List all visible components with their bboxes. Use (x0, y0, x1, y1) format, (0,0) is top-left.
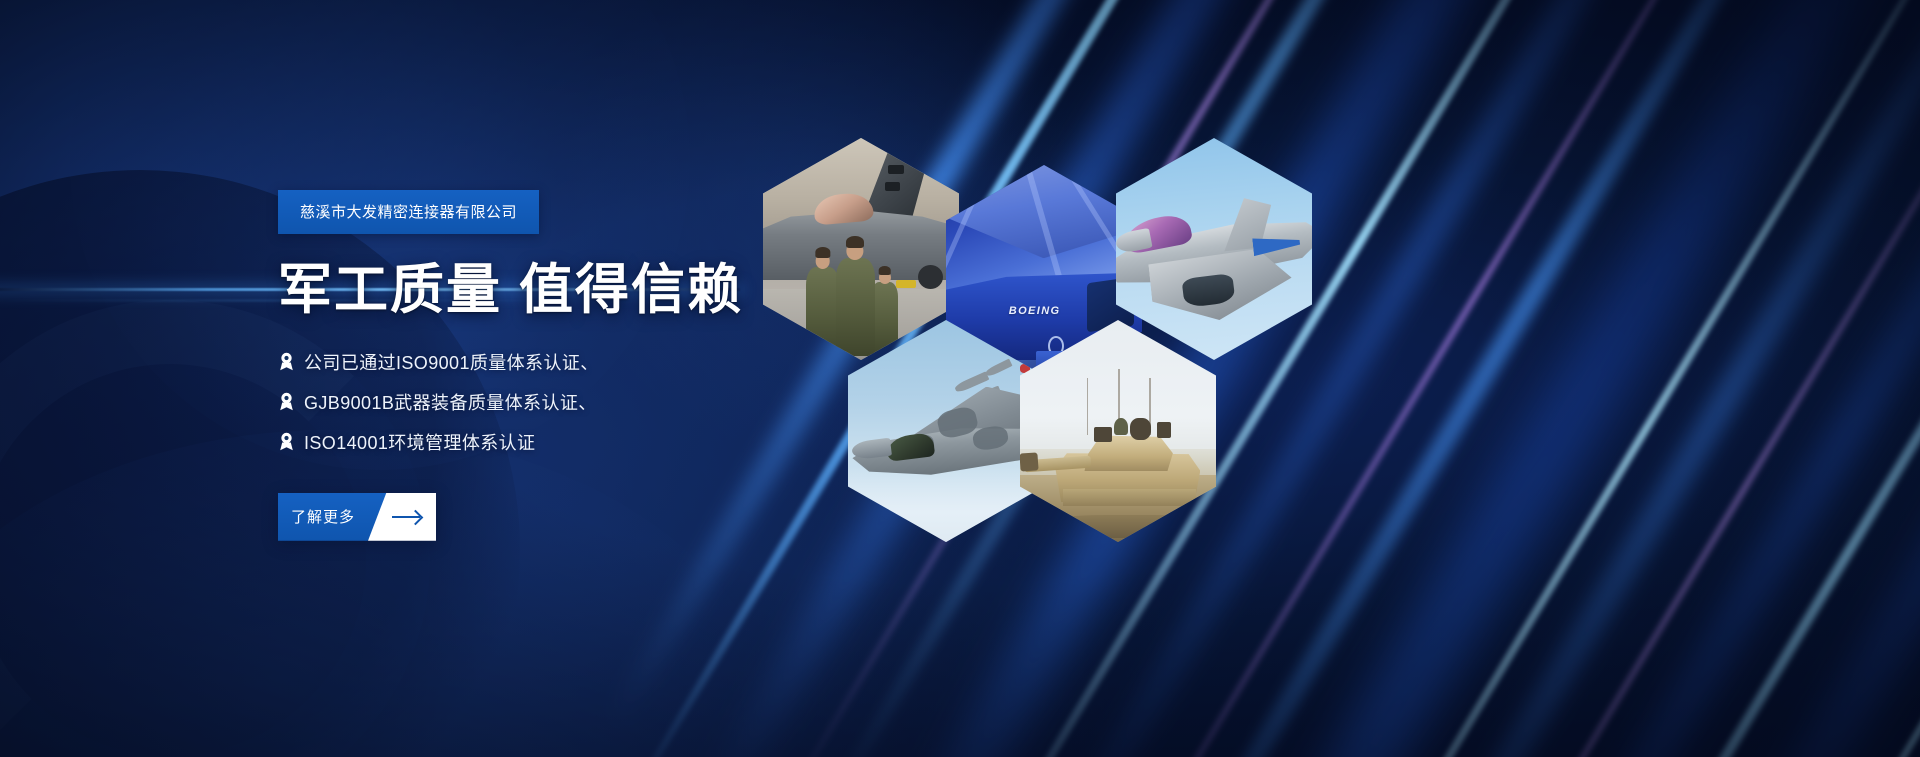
boeing-logo-text: BOEING (1009, 305, 1061, 317)
arrow-right-icon (392, 516, 420, 518)
award-medal-icon (278, 432, 295, 451)
list-item-label: GJB9001B武器装备质量体系认证、 (304, 389, 597, 415)
hero-banner: BOEING (0, 0, 1920, 757)
list-item-label: ISO14001环境管理体系认证 (304, 429, 535, 455)
certification-list: 公司已通过ISO9001质量体系认证、 GJB9001B武器装备质量体系认证、 (278, 349, 898, 455)
list-item-label: 公司已通过ISO9001质量体系认证、 (304, 349, 599, 375)
award-medal-icon (278, 392, 295, 411)
learn-more-button[interactable]: 了解更多 (278, 493, 436, 541)
company-name-badge: 慈溪市大发精密连接器有限公司 (278, 190, 539, 234)
hex-fighter-jet-sky (1116, 138, 1312, 360)
hero-content: 慈溪市大发精密连接器有限公司 军工质量 值得信赖 公司已通过ISO9001质量体… (278, 190, 898, 546)
list-item: 公司已通过ISO9001质量体系认证、 (278, 349, 898, 375)
list-item: ISO14001环境管理体系认证 (278, 429, 898, 455)
list-item: GJB9001B武器装备质量体系认证、 (278, 389, 898, 415)
learn-more-label: 了解更多 (278, 506, 355, 527)
award-medal-icon (278, 352, 295, 371)
page-title: 军工质量 值得信赖 (278, 262, 898, 319)
